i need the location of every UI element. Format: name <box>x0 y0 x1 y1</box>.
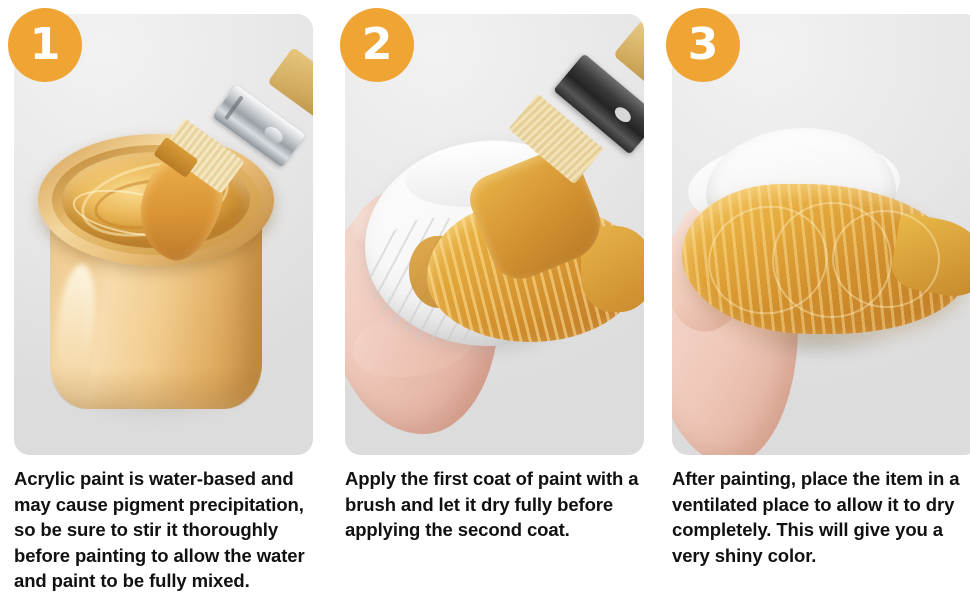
step-1-scene <box>14 14 313 455</box>
step-number: 1 <box>30 23 61 67</box>
step-2-scene <box>345 14 644 455</box>
step-badge-2: 2 <box>340 8 414 82</box>
step-3-scene <box>672 14 970 455</box>
step-badge-3: 3 <box>666 8 740 82</box>
instruction-graphic: 1 Acrylic paint is water-based and may c… <box>0 0 970 600</box>
step-2-photo <box>345 14 644 455</box>
step-panel-1: 1 Acrylic paint is water-based and may c… <box>0 0 325 600</box>
step-panel-2: 2 Apply the first coat of paint with a b… <box>330 0 645 600</box>
paint-brush <box>511 38 644 268</box>
step-3-caption: After painting, place the item in a vent… <box>672 466 970 568</box>
step-3-photo <box>672 14 970 455</box>
step-number: 3 <box>688 23 719 67</box>
step-badge-1: 1 <box>8 8 82 82</box>
step-panel-3: 3 After painting, place the item in a ve… <box>650 0 970 600</box>
step-2-caption: Apply the first coat of paint with a bru… <box>345 466 645 543</box>
step-1-photo <box>14 14 313 455</box>
step-number: 2 <box>362 23 393 67</box>
step-1-caption: Acrylic paint is water-based and may cau… <box>14 466 326 594</box>
paint-brush <box>160 56 313 256</box>
